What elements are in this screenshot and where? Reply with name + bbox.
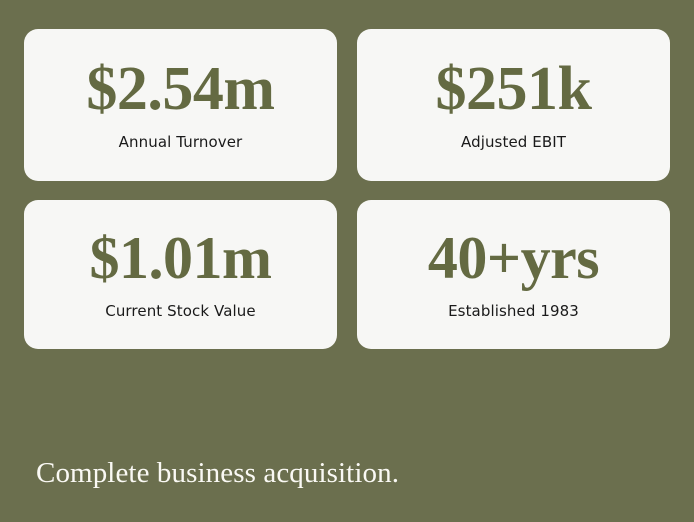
stat-value-adjusted-ebit: $251k [436,59,592,120]
stat-card-grid: $2.54m Annual Turnover $251k Adjusted EB… [24,29,670,349]
stat-value-current-stock-value: $1.01m [90,229,272,288]
stat-label-current-stock-value: Current Stock Value [105,288,255,320]
stat-label-adjusted-ebit: Adjusted EBIT [461,119,566,151]
stat-card-current-stock-value[interactable]: $1.01m Current Stock Value [24,200,337,349]
stat-card-annual-turnover[interactable]: $2.54m Annual Turnover [24,29,337,181]
stat-label-established-years: Established 1983 [448,288,579,320]
stat-card-established-years[interactable]: 40+yrs Established 1983 [357,200,670,349]
stat-value-established-years: 40+yrs [428,229,599,288]
stat-value-annual-turnover: $2.54m [86,59,274,120]
listing-stats-card-panel: $2.54m Annual Turnover $251k Adjusted EB… [0,0,694,522]
stat-card-adjusted-ebit[interactable]: $251k Adjusted EBIT [357,29,670,181]
stat-label-annual-turnover: Annual Turnover [119,119,243,151]
tagline: Complete business acquisition. [36,457,399,490]
